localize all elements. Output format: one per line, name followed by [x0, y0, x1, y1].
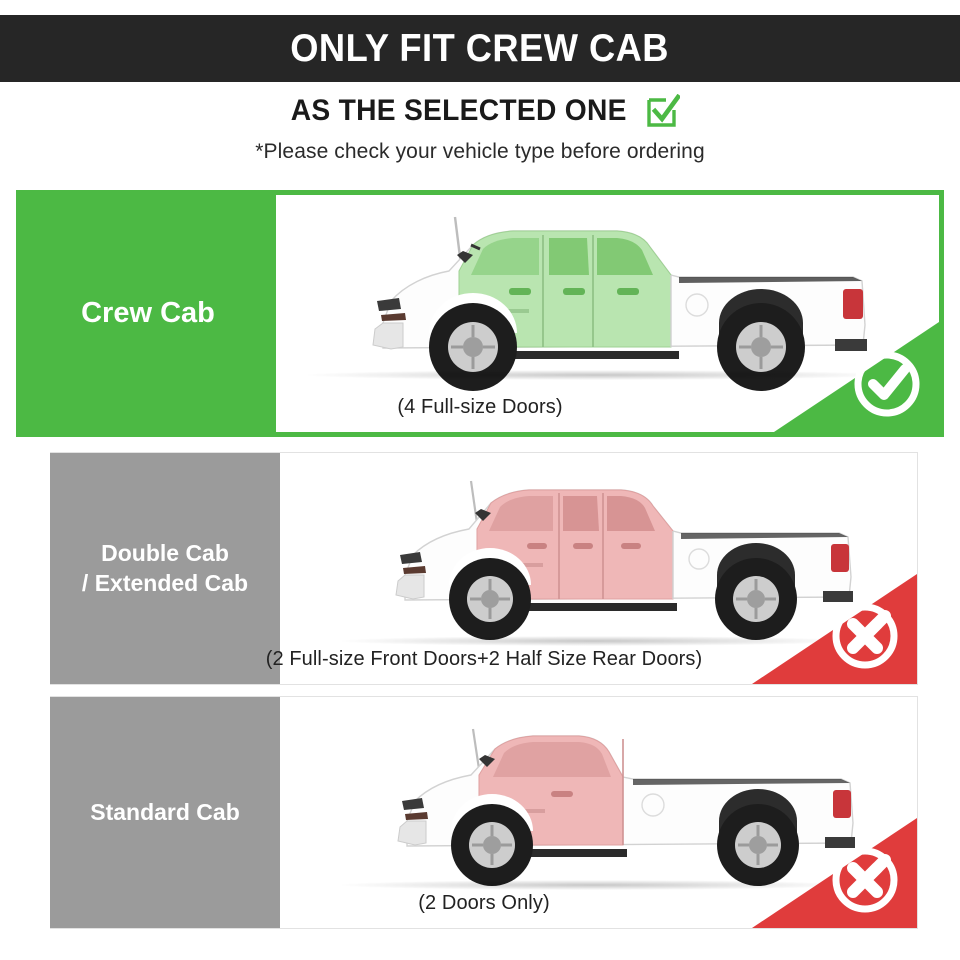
- row-caption-double-cab: (2 Full-size Front Doors+2 Half Size Rea…: [51, 648, 917, 671]
- row-label-text: Crew Cab: [81, 295, 215, 332]
- green-checkbox-icon: [646, 94, 680, 128]
- row-crew-cab: Crew Cab: [16, 190, 944, 437]
- subtitle-row: AS THE SELECTED ONE: [0, 88, 960, 134]
- row-caption-crew-cab: (4 Full-size Doors): [21, 396, 939, 419]
- row-label-line2: / Extended Cab: [82, 570, 248, 596]
- standard-cab-truck: [323, 709, 883, 899]
- double-cab-truck: [321, 465, 881, 655]
- page-title: ONLY FIT CREW CAB: [291, 29, 670, 68]
- row-label-line1: Double Cab: [101, 540, 229, 566]
- row-label-text: Standard Cab: [90, 798, 240, 827]
- row-caption-standard-cab: (2 Doors Only): [51, 892, 917, 915]
- row-label-text: Double Cab / Extended Cab: [82, 539, 248, 598]
- ground-shadow: [341, 636, 847, 646]
- row-double-cab: Double Cab / Extended Cab: [50, 452, 918, 685]
- header-band: ONLY FIT CREW CAB: [0, 15, 960, 82]
- ground-shadow: [341, 880, 847, 890]
- vehicle-check-note: *Please check your vehicle type before o…: [0, 140, 960, 164]
- subtitle-text: AS THE SELECTED ONE: [291, 96, 627, 126]
- row-standard-cab: Standard Cab: [50, 696, 918, 929]
- ground-shadow: [307, 370, 887, 380]
